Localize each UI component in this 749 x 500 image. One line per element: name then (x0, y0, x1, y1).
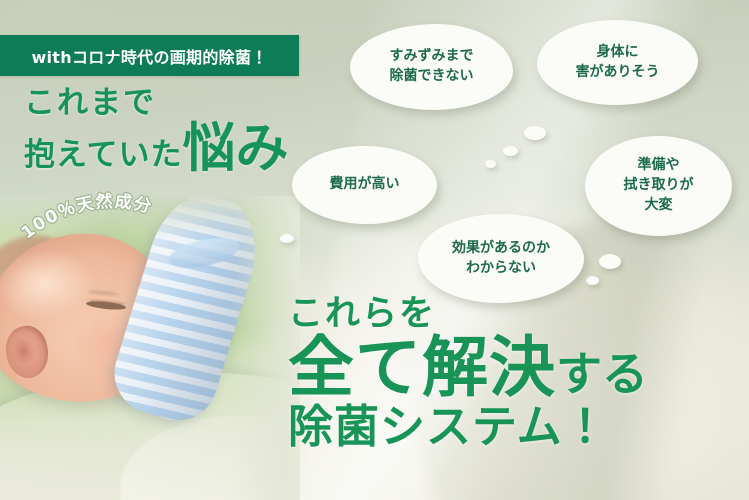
bubble-line: 大変 (645, 196, 673, 216)
bubble-line: わからない (466, 259, 536, 279)
bubble-sumizumi: すみずみまで 除菌できない (350, 24, 513, 110)
bubble-line: 身体に (597, 43, 639, 63)
ribbon-label: withコロナ時代の画期的除菌！ (31, 44, 267, 68)
promo-banner: withコロナ時代の画期的除菌！ これまで 抱えていた 悩み 100％天然成分 … (0, 0, 749, 500)
baby-photo (0, 196, 300, 500)
bubble-line: 費用が高い (330, 175, 400, 195)
bubble-line: 効果があるのか (452, 239, 550, 259)
headline-bottom-line2-suffix: する (556, 351, 648, 399)
headline-top-line1: これまで (24, 88, 288, 119)
headline-top-line2-emphasis: 悩み (182, 125, 288, 174)
thought-dot (503, 146, 518, 156)
thought-dot (586, 276, 599, 285)
thought-dot (524, 126, 546, 140)
thought-dot (280, 234, 294, 243)
headline-bottom-line1: これらを (288, 297, 648, 332)
bubble-line: 害がありそう (576, 63, 660, 83)
headline-top-line2: 抱えていた 悩み (24, 125, 288, 174)
thought-dot (599, 254, 621, 269)
bubble-junbi: 準備や 拭き取りが 大変 (585, 136, 732, 236)
thought-dot (485, 160, 496, 168)
bubble-line: 除菌できない (390, 67, 474, 87)
headline-top-line2-small: 抱えていた (24, 140, 182, 174)
bubble-line: すみずみまで (390, 47, 474, 67)
bubble-hiyou: 費用が高い (292, 146, 437, 224)
bubble-line: 拭き取りが (624, 176, 694, 196)
bubble-kouka: 効果があるのか わからない (418, 214, 584, 303)
headline-bottom-emphasis: 全て解決 (288, 336, 556, 399)
headline-bottom: これらを 全て解決 する 除菌システム！ (288, 297, 648, 449)
headline-bottom-line3: 除菌システム！ (288, 404, 648, 449)
headline-top: これまで 抱えていた 悩み (24, 88, 288, 174)
bubble-line: 準備や (638, 156, 680, 176)
ribbon-banner: withコロナ時代の画期的除菌！ (0, 35, 299, 76)
headline-bottom-line2: 全て解決 する (288, 336, 648, 399)
